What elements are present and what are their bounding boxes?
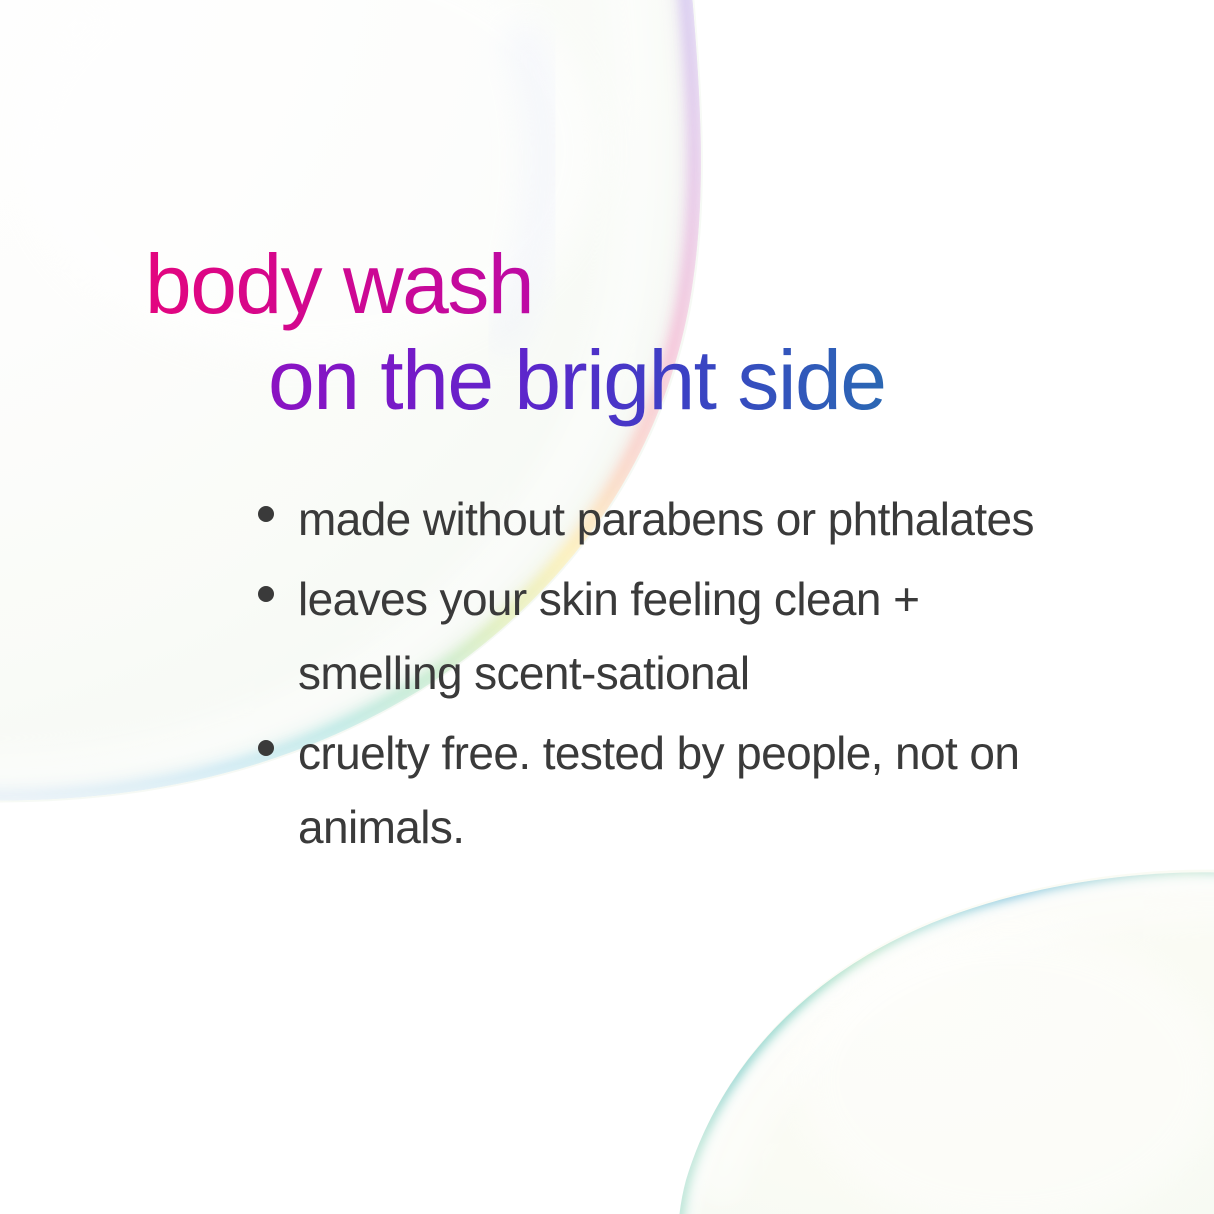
bullet-dot-icon bbox=[258, 506, 274, 522]
benefit-text: leaves your skin feeling clean + smellin… bbox=[298, 562, 1058, 710]
list-item: made without parabens or phthalates bbox=[258, 482, 1058, 556]
headline-block: body wash on the bright side bbox=[0, 236, 1214, 428]
headline-line-secondary: on the bright side bbox=[268, 332, 1214, 428]
bullet-dot-icon bbox=[258, 586, 274, 602]
headline-line-primary: body wash bbox=[145, 236, 1214, 332]
list-item: cruelty free. tested by people, not on a… bbox=[258, 716, 1058, 864]
bullet-dot-icon bbox=[258, 740, 274, 756]
benefit-text: cruelty free. tested by people, not on a… bbox=[298, 716, 1058, 864]
benefits-list: made without parabens or phthalates leav… bbox=[258, 482, 1058, 870]
bubble-bottom-right bbox=[677, 870, 1214, 1214]
marketing-graphic-canvas: body wash on the bright side made withou… bbox=[0, 0, 1214, 1214]
benefit-text: made without parabens or phthalates bbox=[298, 482, 1058, 556]
list-item: leaves your skin feeling clean + smellin… bbox=[258, 562, 1058, 710]
